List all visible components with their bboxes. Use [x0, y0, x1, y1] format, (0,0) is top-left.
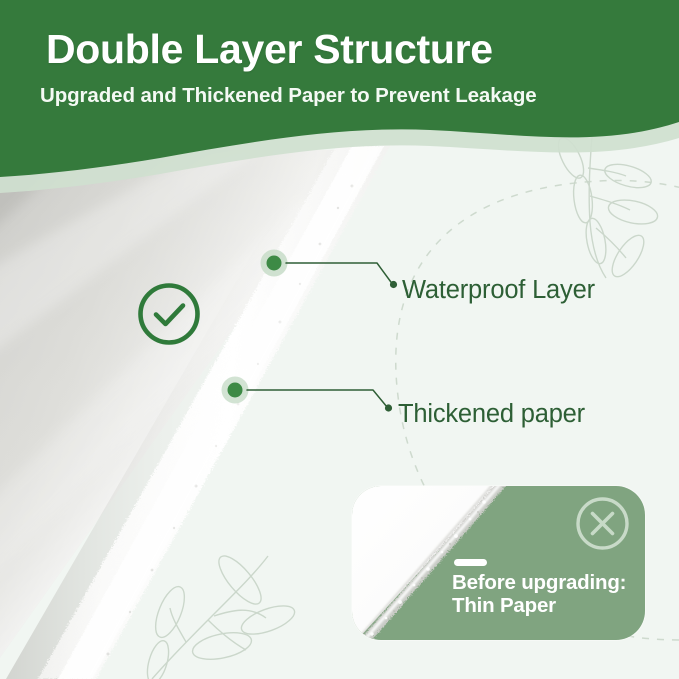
page-subtitle: Upgraded and Thickened Paper to Prevent … — [40, 84, 537, 108]
infographic-canvas: Double Layer Structure Upgraded and Thic… — [0, 0, 679, 679]
callout-waterproof-layer: Waterproof Layer — [255, 240, 655, 330]
x-circle-icon — [574, 495, 631, 552]
check-circle-icon — [136, 281, 202, 347]
callout-label-thickened-paper: Thickened paper — [398, 400, 585, 429]
before-upgrading-line-1: Before upgrading: — [452, 572, 626, 595]
before-upgrading-card: Before upgrading: Thin Paper — [352, 486, 645, 640]
dot-marker-icon — [228, 383, 243, 398]
dot-marker-icon — [267, 256, 282, 271]
page-title: Double Layer Structure — [46, 26, 493, 73]
callout-thickened-paper: Thickened paper — [215, 370, 635, 450]
callout-label-waterproof-layer: Waterproof Layer — [402, 276, 595, 305]
connector-line — [247, 390, 387, 407]
before-upgrading-text: Before upgrading: Thin Paper — [452, 572, 626, 618]
dot-endpoint-icon — [385, 404, 392, 411]
connector-line — [286, 263, 392, 284]
dot-endpoint-icon — [390, 281, 397, 288]
dash-bar-icon — [454, 559, 487, 566]
before-upgrading-line-2: Thin Paper — [452, 595, 626, 618]
